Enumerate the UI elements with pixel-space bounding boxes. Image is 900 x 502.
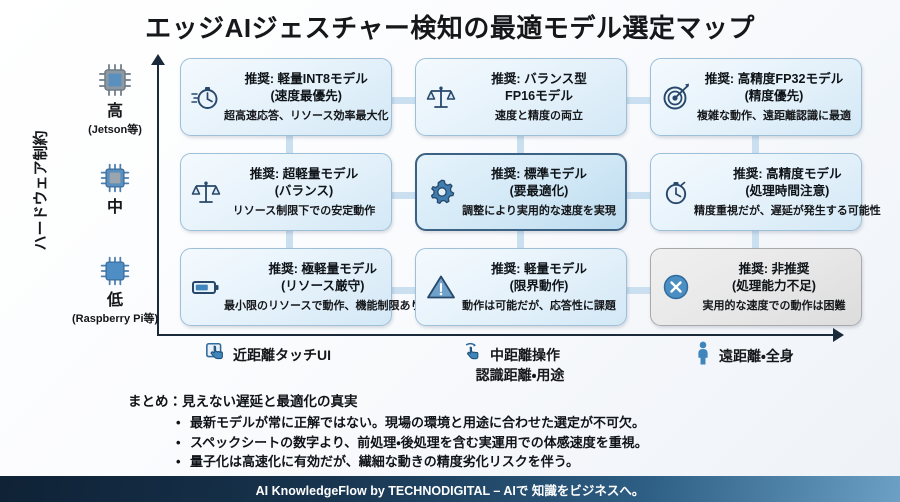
x-circle-icon [658,272,694,302]
y-tick-sublabel: (Jetson等) [72,121,158,137]
x-tick-near: 近距離タッチUI [205,341,331,368]
summary-list: 最新モデルが常に正解ではない。現場の環境と用途に合わせた選定が不可欠。 スペック… [128,413,868,472]
connector-r1-c1-c2 [392,97,415,104]
card-title-line1: 推奨: 軽量モデル [459,261,619,278]
y-tick-high: 高 (Jetson等) [72,62,158,137]
card-description: 精度重視だが、遅延が発生する可能性 [694,202,881,218]
y-tick-label: 高 [72,104,158,121]
y-tick-low: 低 (Raspberry Pi等) [72,255,158,326]
summary-bullet: 量子化は高速化に有効だが、繊細な動きの精度劣化リスクを伴う。 [190,452,868,472]
card-low-far-not-recommended[interactable]: 推奨: 非推奨 (処理能力不足) 実用的な速度での動作は困難 [650,248,862,326]
y-tick-mid: 中 [72,162,158,217]
y-tick-label: 低 [72,293,158,310]
scales-icon [188,177,224,207]
card-title-line2: (速度最優先) [224,88,388,105]
card-mid-far[interactable]: 推奨: 高精度モデル (処理時間注意) 精度重視だが、遅延が発生する可能性 [650,153,862,231]
card-text: 推奨: 高精度FP32モデル (精度優先) 複雑な動作、遠距離認識に最適 [694,71,854,123]
card-title-line1: 推奨: バランス型 [459,71,619,88]
y-tick-sublabel: (Raspberry Pi等) [72,310,158,326]
card-title-line2: (精度優先) [694,88,854,105]
card-title-line2: (要最適化) [460,183,618,200]
card-description: 動作は可能だが、応答性に課題 [459,297,619,313]
target-icon [658,82,694,112]
card-title-line1: 推奨: 標準モデル [460,166,618,183]
x-axis-arrow-icon [833,328,844,342]
y-axis-title: ハードウェア制約 [30,116,51,266]
card-title-line2: FP16モデル [459,88,619,105]
summary-bullet: スペックシートの数字より、前処理・後処理を含む実運用での体感速度を重視。 [190,433,868,453]
scales-icon [423,82,459,112]
x-axis-line [157,334,835,336]
connector-r2-c2-c3 [627,192,650,199]
card-description: 速度と精度の両立 [459,107,619,123]
connector-r1-c2-c3 [627,97,650,104]
footer-bar: AI KnowledgeFlow by TECHNODIGITAL – AIで … [0,476,900,502]
x-tick-far: 遠距離・全身 [693,341,794,370]
x-tick-label: 中距離操作 [490,345,560,365]
card-description: 最小限のリソースで動作、機能制限あり [224,297,421,313]
card-title-line2: (処理時間注意) [694,183,881,200]
x-tick-mid: 中距離操作 [462,341,560,368]
summary-bullet: 最新モデルが常に正解ではない。現場の環境と用途に合わせた選定が不可欠。 [190,413,868,433]
page-title: エッジAIジェスチャー検知の最適モデル選定マップ [0,8,900,45]
x-tick-label: 遠距離・全身 [719,346,794,366]
person-icon [693,341,713,370]
x-axis-title: 認識距離・用途 [405,365,635,385]
card-text: 推奨: 高精度モデル (処理時間注意) 精度重視だが、遅延が発生する可能性 [694,166,881,218]
y-tick-label: 中 [72,200,158,217]
card-text: 推奨: 軽量モデル (限界動作) 動作は可能だが、応答性に課題 [459,261,619,313]
stopwatch-icon [658,177,694,207]
connector-r3-c2-c3 [627,287,650,294]
card-text: 推奨: 極軽量モデル (リソース厳守) 最小限のリソースで動作、機能制限あり [224,261,421,313]
card-text: 推奨: 超軽量モデル (バランス) リソース制限下での安定動作 [224,166,384,218]
card-description: 実用的な速度での動作は困難 [694,297,854,313]
card-title-line1: 推奨: 高精度FP32モデル [694,71,854,88]
card-title-line1: 推奨: 高精度モデル [694,166,881,183]
x-tick-label: 近距離タッチUI [233,345,331,365]
card-title-line2: (リソース厳守) [224,278,421,295]
footer-text: AI KnowledgeFlow by TECHNODIGITAL – AIで … [256,480,645,499]
card-title-line1: 推奨: 非推奨 [694,261,854,278]
card-text: 推奨: 標準モデル (要最適化) 調整により実用的な速度を実現 [460,166,618,218]
card-text: 推奨: 非推奨 (処理能力不足) 実用的な速度での動作は困難 [694,261,854,313]
chip-icon [72,162,158,199]
card-low-near[interactable]: 推奨: 極軽量モデル (リソース厳守) 最小限のリソースで動作、機能制限あり [180,248,392,326]
card-text: 推奨: 軽量INT8モデル (速度最優先) 超高速応答、リソース効率最大化 [224,71,388,123]
card-title-line2: (限界動作) [459,278,619,295]
hand-swipe-icon [462,341,484,368]
battery-icon [188,272,224,302]
card-title-line2: (バランス) [224,183,384,200]
card-mid-near[interactable]: 推奨: 超軽量モデル (バランス) リソース制限下での安定動作 [180,153,392,231]
card-mid-mid-recommended[interactable]: 推奨: 標準モデル (要最適化) 調整により実用的な速度を実現 [415,153,627,231]
card-title-line1: 推奨: 極軽量モデル [224,261,421,278]
card-description: 超高速応答、リソース効率最大化 [224,107,388,123]
touch-ui-icon [205,341,227,368]
warning-triangle-icon [423,272,459,302]
card-title-line1: 推奨: 超軽量モデル [224,166,384,183]
chip-icon [72,62,158,103]
card-high-mid[interactable]: 推奨: バランス型 FP16モデル 速度と精度の両立 [415,58,627,136]
card-description: リソース制限下での安定動作 [224,202,384,218]
connector-r2-c1-c2 [392,192,415,199]
card-low-mid[interactable]: 推奨: 軽量モデル (限界動作) 動作は可能だが、応答性に課題 [415,248,627,326]
card-title-line2: (処理能力不足) [694,278,854,295]
card-high-far[interactable]: 推奨: 高精度FP32モデル (精度優先) 複雑な動作、遠距離認識に最適 [650,58,862,136]
chip-icon [72,255,158,292]
stopwatch-icon [188,82,224,112]
card-high-near[interactable]: 推奨: 軽量INT8モデル (速度最優先) 超高速応答、リソース効率最大化 [180,58,392,136]
card-description: 調整により実用的な速度を実現 [460,202,618,218]
card-text: 推奨: バランス型 FP16モデル 速度と精度の両立 [459,71,619,123]
summary-heading: まとめ：見えない遅延と最適化の真実 [128,390,868,410]
gear-icon [424,177,460,207]
summary-section: まとめ：見えない遅延と最適化の真実 最新モデルが常に正解ではない。現場の環境と用… [128,390,868,472]
card-title-line1: 推奨: 軽量INT8モデル [224,71,388,88]
card-description: 複雑な動作、遠距離認識に最適 [694,107,854,123]
